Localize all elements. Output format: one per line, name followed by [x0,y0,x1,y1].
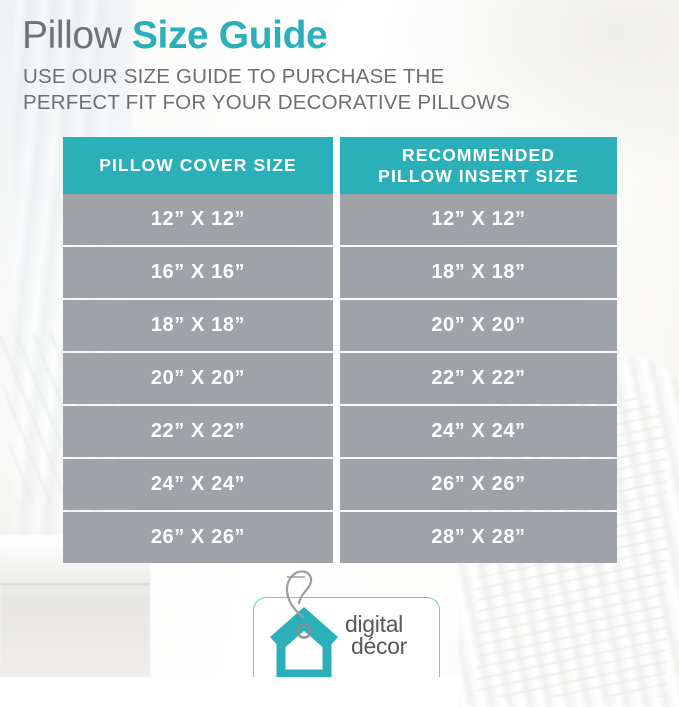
table-header-insert-line-2: PILLOW INSERT SIZE [378,166,579,187]
table-header-row: PILLOW COVER SIZE RECOMMENDED PILLOW INS… [63,137,617,194]
cell-insert-size: 18” X 18” [340,247,617,298]
brand-wordmark: digital décor [345,613,407,657]
brand-word-line-2: décor [345,635,407,657]
page-title-accent: Size Guide [132,14,327,57]
page-subtitle: USE OUR SIZE GUIDE TO PURCHASE THE PERFE… [23,64,510,115]
table-row: 20” X 20” 22” X 22” [63,353,617,404]
cell-cover-size: 16” X 16” [63,247,333,298]
cell-cover-size: 22” X 22” [63,406,333,457]
brand-word-line-1: digital [345,613,407,635]
cell-insert-size: 12” X 12” [340,194,617,245]
cell-insert-size: 22” X 22” [340,353,617,404]
table-row: 12” X 12” 12” X 12” [63,194,617,245]
page-title-light: Pillow [22,14,121,57]
page-subtitle-line-2: PERFECT FIT FOR YOUR DECORATIVE PILLOWS [23,90,510,116]
table-header: PILLOW COVER SIZE RECOMMENDED PILLOW INS… [63,137,617,194]
table-row: 22” X 22” 24” X 24” [63,406,617,457]
pillow-size-table: PILLOW COVER SIZE RECOMMENDED PILLOW INS… [63,137,617,565]
cell-insert-size: 20” X 20” [340,300,617,351]
table-header-insert-line-1: RECOMMENDED [378,145,579,166]
cell-cover-size: 18” X 18” [63,300,333,351]
cell-insert-size: 24” X 24” [340,406,617,457]
cell-insert-size: 26” X 26” [340,459,617,510]
cell-insert-size: 28” X 28” [340,512,617,563]
table-row: 26” X 26” 28” X 28” [63,512,617,563]
cell-cover-size: 24” X 24” [63,459,333,510]
cell-cover-size: 12” X 12” [63,194,333,245]
table-row: 24” X 24” 26” X 26” [63,459,617,510]
page-subtitle-line-1: USE OUR SIZE GUIDE TO PURCHASE THE [23,64,510,90]
cell-cover-size: 26” X 26” [63,512,333,563]
table-row: 16” X 16” 18” X 18” [63,247,617,298]
table-body: 12” X 12” 12” X 12” 16” X 16” 18” X 18” … [63,194,617,563]
table-row: 18” X 18” 20” X 20” [63,300,617,351]
table-header-cover-size: PILLOW COVER SIZE [63,137,333,194]
house-tag-icon [265,601,343,677]
table-header-insert-size: RECOMMENDED PILLOW INSERT SIZE [340,137,617,194]
page-title: Pillow Size Guide [22,14,327,58]
cell-cover-size: 20” X 20” [63,353,333,404]
